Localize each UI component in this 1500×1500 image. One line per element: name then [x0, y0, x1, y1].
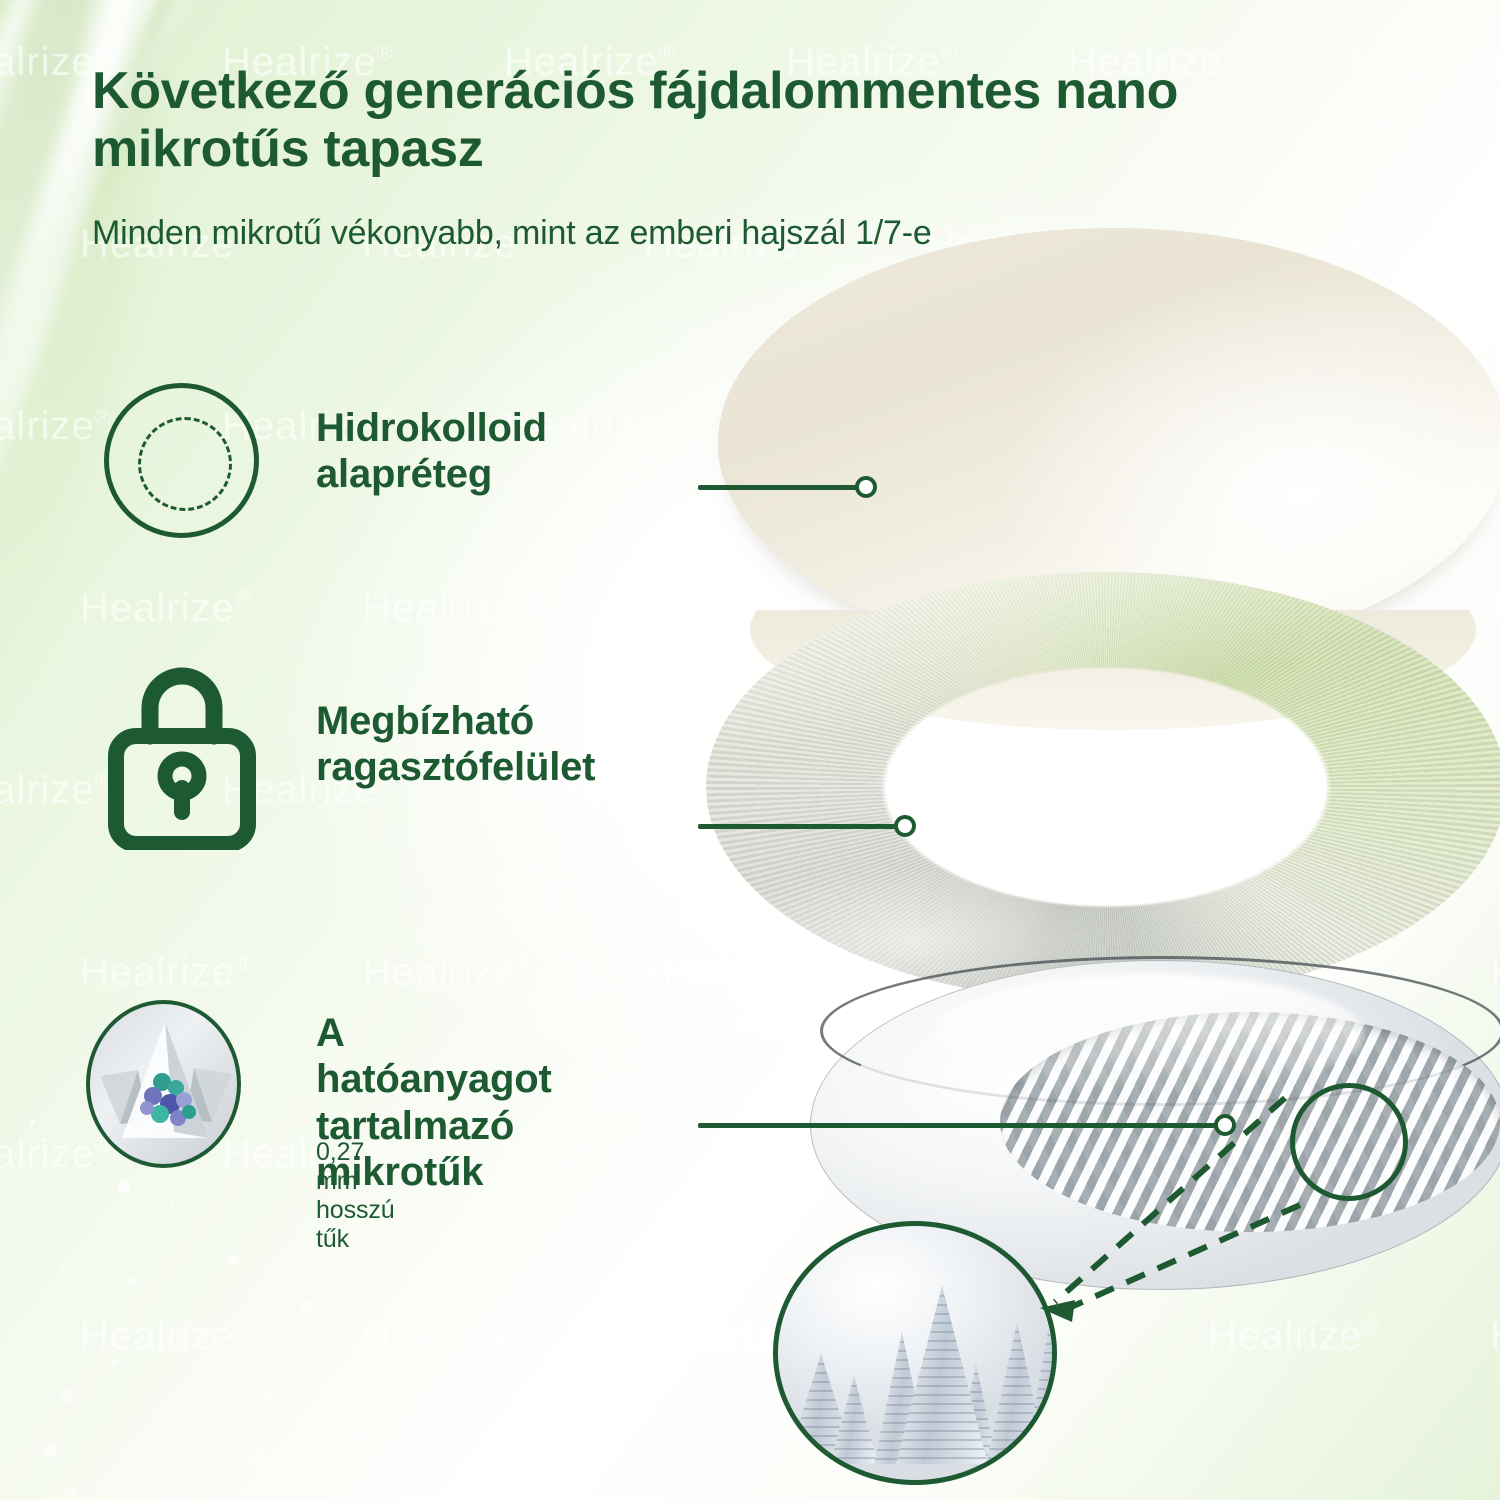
- connector-knob-adhesive: [894, 815, 916, 837]
- sparkle-dot: [112, 1360, 117, 1365]
- brand-watermark: Healrize®: [786, 1496, 958, 1500]
- adhesive-ring-layer: [706, 572, 1500, 1002]
- infographic-canvas: Healrize®Healrize®Healrize®Healrize®Heal…: [0, 0, 1500, 1500]
- sparkle-dot: [250, 1452, 263, 1465]
- sparkle-dot: [395, 1355, 404, 1364]
- feature-microneedles-sublabel: 0,27 mm hosszú tűk: [316, 1138, 395, 1254]
- sparkle-dot: [265, 1390, 274, 1399]
- brand-watermark: Healrize®: [1068, 1496, 1240, 1500]
- sparkle-dot: [320, 1470, 325, 1475]
- dashed-circle-icon: [104, 383, 259, 538]
- brand-watermark: Healrize®: [1350, 40, 1500, 85]
- brand-watermark: Healrize®: [1208, 1314, 1380, 1359]
- brand-watermark: Healrize®: [0, 768, 112, 813]
- sparkle-dot: [128, 1278, 137, 1287]
- background-streak: [0, 0, 306, 376]
- connector-knob-microneedles: [1214, 1114, 1236, 1136]
- feature-hydrocolloid-label: Hidrokolloid alapréteg: [316, 405, 547, 498]
- page-subtitle: Minden mikrotű vékonyabb, mint az emberi…: [92, 212, 1252, 255]
- sparkle-dot: [30, 1120, 35, 1125]
- connector-line-adhesive: [698, 824, 898, 829]
- page-title: Következő generációs fájdalommentes nano…: [92, 62, 1272, 178]
- feature-adhesive-label: Megbízható ragasztófelület: [316, 698, 595, 791]
- brand-watermark: Healrize®: [362, 1314, 534, 1359]
- sparkle-dot: [60, 1390, 73, 1403]
- sparkle-dot: [70, 1490, 75, 1495]
- brand-watermark: Healrize®: [0, 404, 112, 449]
- sparkle-dot: [355, 1430, 368, 1443]
- brand-watermark: Healrize®: [80, 950, 252, 995]
- connector-line-microneedles: [698, 1123, 1218, 1128]
- brand-watermark: Healrize®: [0, 1496, 112, 1500]
- sparkle-dot: [118, 1180, 131, 1193]
- brand-watermark: Healrize®: [222, 1496, 394, 1500]
- brand-watermark: Healrize®: [1490, 1314, 1500, 1359]
- sparkle-dot: [300, 1300, 313, 1313]
- adhesive-ring-highlight: [706, 572, 1500, 1002]
- sparkle-dot: [230, 1255, 239, 1264]
- connector-line-hydrocolloid: [698, 485, 858, 490]
- brand-watermark: Healrize®: [504, 1496, 676, 1500]
- sparkle-dot: [200, 1396, 209, 1405]
- brand-watermark: Healrize®: [362, 586, 534, 631]
- sparkle-dot: [60, 1268, 65, 1273]
- connector-knob-hydrocolloid: [855, 476, 877, 498]
- microneedle-photo-icon: [86, 1000, 241, 1168]
- microneedle-disc-highlight: [935, 974, 1365, 1094]
- microneedle-magnifier: [773, 1221, 1057, 1485]
- brand-watermark: Healrize®: [80, 586, 252, 631]
- brand-watermark: Healrize®: [1350, 1496, 1500, 1500]
- brand-watermark: Healrize®: [362, 950, 534, 995]
- sparkle-dot: [170, 1200, 175, 1205]
- brand-watermark: Healrize®: [80, 1314, 252, 1359]
- needle-zoom-target: [1290, 1083, 1408, 1201]
- padlock-icon: [102, 650, 262, 855]
- sparkle-dot: [44, 1444, 57, 1457]
